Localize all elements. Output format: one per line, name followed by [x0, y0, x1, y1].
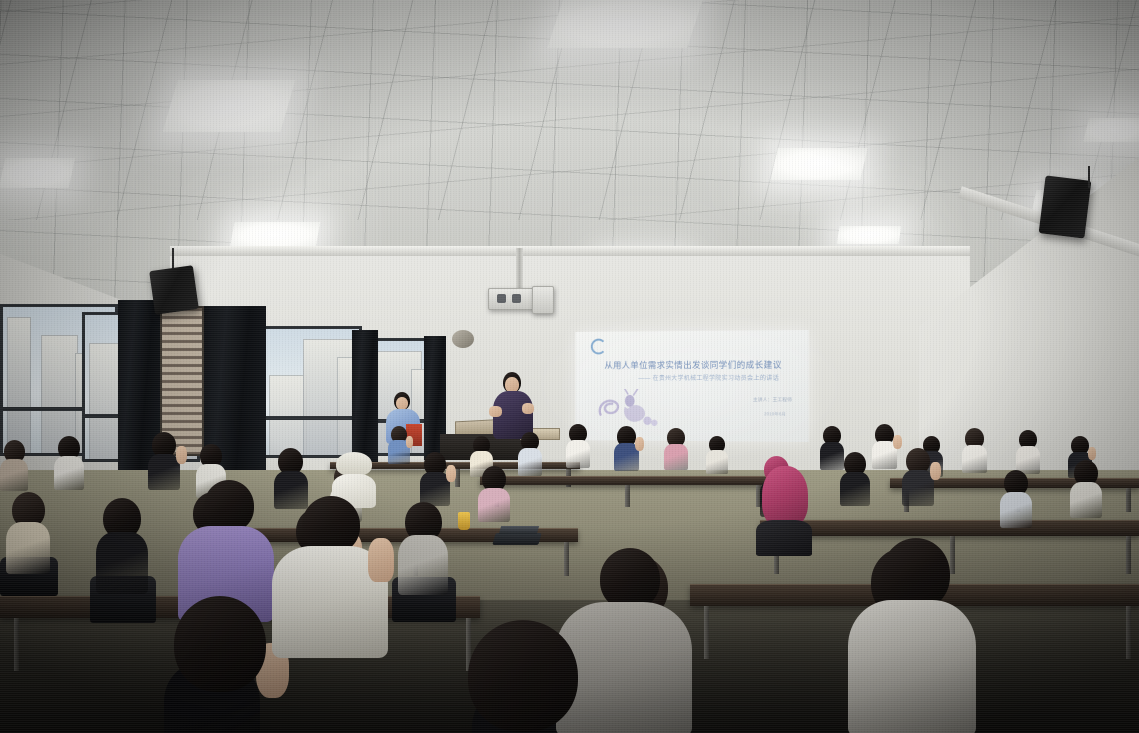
light-panel-5: [770, 148, 867, 180]
clapping-hand: [635, 437, 644, 451]
foreground-left-head: [174, 596, 266, 692]
torso: [1000, 492, 1032, 528]
clapping-hand: [893, 435, 902, 449]
projector-lens: [497, 294, 506, 303]
torso: [478, 488, 510, 522]
torso: [962, 445, 987, 473]
desk-leg: [1126, 488, 1131, 512]
student-purple-head: [204, 480, 254, 532]
row-back-person-5: [664, 428, 688, 472]
row-middle-person-7: [478, 466, 510, 524]
desk-leg: [704, 606, 709, 659]
light-panel-4: [547, 0, 703, 48]
torso: [1070, 482, 1102, 518]
desk-right-2: [760, 520, 1139, 536]
clapping-hand: [446, 465, 456, 482]
slide-subtitle: —— 在贵州大学机械工程学院实习动员会上的讲话: [614, 373, 804, 382]
desk-leg: [625, 485, 630, 507]
window-view: [265, 329, 359, 455]
torso: [6, 522, 50, 574]
drink-cup: [458, 512, 470, 530]
e-swirl-logo: [593, 389, 663, 431]
projection-screen: 从用人单位需求实情出发谈同学们的成长建议 —— 在贵州大学机械工程学院实习动员会…: [575, 330, 808, 442]
clapping-hands: [368, 538, 394, 582]
torso: [54, 456, 84, 490]
light-panel-8: [837, 226, 902, 244]
row-middle-person-11: [1000, 470, 1032, 531]
torso: [664, 444, 688, 470]
curtain-3: [352, 330, 378, 462]
wall-fan: [452, 330, 474, 348]
clapping-hand: [1088, 447, 1096, 460]
torso: [398, 535, 448, 595]
student-pink-hair: [756, 466, 812, 554]
row-back-person-4: [614, 426, 639, 474]
torso: [518, 448, 542, 476]
row-back-person-6: [706, 436, 728, 477]
torso: [566, 440, 590, 468]
torso: [840, 472, 870, 506]
row-back-person-3: [566, 424, 590, 472]
building-outside: [89, 343, 120, 462]
window-left-3: [262, 326, 362, 458]
row-back-person-2: [518, 432, 542, 480]
torso: [902, 470, 934, 506]
laptop-on-desk: [492, 533, 541, 545]
student-dark-front-right: [848, 538, 976, 733]
row-back-person-8: [872, 424, 897, 472]
torso: [706, 450, 728, 474]
wall-speaker-right: [1039, 175, 1092, 238]
clapping-hand: [176, 446, 187, 464]
row-middle-person-1: [54, 436, 84, 494]
clapping-hand: [406, 436, 413, 448]
row-back-person-0: [388, 426, 410, 467]
speaker-cable-right: [1088, 166, 1090, 188]
projector-mount-plate: [532, 286, 554, 314]
row-middle-person-12: [1070, 460, 1102, 521]
torso: [148, 454, 180, 490]
light-panel-9: [1083, 118, 1139, 142]
projector-vent: [512, 294, 521, 303]
torso: [0, 459, 28, 491]
light-panel-3: [230, 222, 321, 248]
row-middle-person-2: [148, 432, 180, 493]
pink-hair-torso: [756, 520, 812, 556]
front-cornice: [170, 246, 970, 256]
row-front-person-4: [398, 502, 448, 604]
row-middle-person-10: [902, 448, 934, 509]
row-middle-person-0: [0, 440, 28, 494]
student-foreground-left: [130, 596, 300, 733]
grey-hoodie-head: [600, 548, 660, 610]
window-mullion: [265, 416, 359, 420]
row-front-person-1: [96, 498, 148, 603]
wall-speaker-left: [149, 265, 199, 315]
light-panel-2: [0, 158, 75, 188]
foreground-center-head: [468, 620, 578, 732]
desk-leg: [14, 618, 19, 671]
row-front-person-0: [6, 492, 50, 580]
circular-c-icon: [591, 339, 607, 355]
slide-date-line: 2019年6月: [764, 411, 786, 417]
slide-presenter-line: 主讲人：王工程师: [753, 397, 792, 403]
row-middle-person-9: [840, 452, 870, 510]
torso: [96, 532, 148, 594]
pink-hair-head: [762, 466, 808, 528]
student-foreground-center: [438, 620, 618, 733]
desk-leg: [1126, 536, 1131, 574]
presenter-hand-right: [522, 403, 534, 414]
classroom-photo: 从用人单位需求实情出发谈同学们的成长建议 —— 在贵州大学机械工程学院实习动员会…: [0, 0, 1139, 733]
laptop-screen: [499, 526, 539, 534]
presenter: [490, 372, 536, 440]
dark-front-right-torso: [848, 600, 976, 733]
building-outside: [7, 317, 31, 456]
row-back-person-10: [962, 428, 987, 476]
desk-leg: [1126, 606, 1131, 659]
projector-pole: [516, 248, 523, 290]
clapping-hand: [930, 462, 941, 480]
white-cap-icon: [336, 452, 372, 476]
presenter-hand-left: [489, 406, 502, 417]
light-panel-1: [163, 80, 296, 132]
slide-title: 从用人单位需求实情出发谈同学们的成长建议: [589, 359, 798, 372]
